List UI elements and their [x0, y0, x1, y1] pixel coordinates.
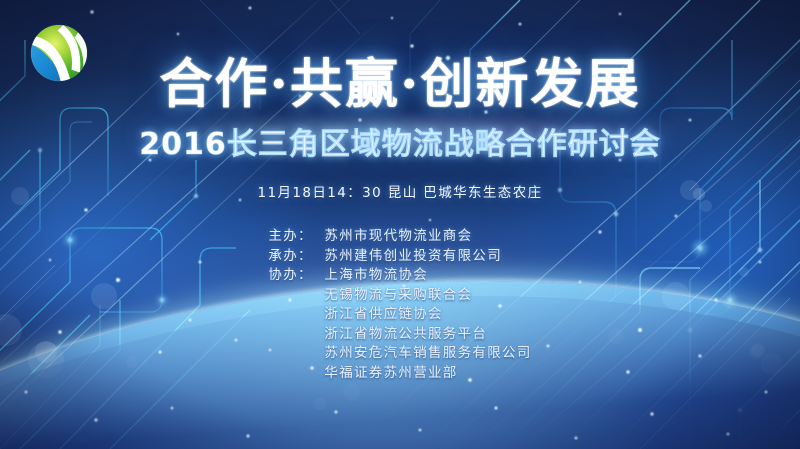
- organizer-label: 主办：: [268, 227, 324, 247]
- organizer-label: 协办：: [268, 266, 324, 286]
- organizer-row: 协办：浙江省物流公共服务平台: [268, 325, 531, 345]
- organizer-row: 协办：华福证券苏州营业部: [268, 364, 531, 384]
- organizer-name: 上海市物流协会: [324, 266, 531, 286]
- organizer-name: 苏州安危汽车销售服务有限公司: [324, 344, 531, 364]
- organizer-name: 浙江省物流公共服务平台: [324, 325, 531, 345]
- organizer-row: 协办：无锡物流与采购联合会: [268, 286, 531, 306]
- organizer-name: 浙江省供应链协会: [324, 305, 531, 325]
- main-title: 合作·共赢·创新发展: [0, 58, 800, 111]
- organizer-row: 协办：苏州安危汽车销售服务有限公司: [268, 344, 531, 364]
- organizer-list: 主办：苏州市现代物流业商会承办：苏州建伟创业投资有限公司协办：上海市物流协会协办…: [268, 227, 531, 383]
- organizer-row: 协办：上海市物流协会: [268, 266, 531, 286]
- poster-content: 合作·共赢·创新发展 2016长三角区域物流战略合作研讨会 11月18日14：3…: [0, 0, 800, 383]
- organizer-name: 苏州建伟创业投资有限公司: [324, 247, 531, 267]
- organizer-name: 华福证券苏州营业部: [324, 364, 531, 384]
- organizer-row: 承办：苏州建伟创业投资有限公司: [268, 247, 531, 267]
- organizer-name: 苏州市现代物流业商会: [324, 227, 531, 247]
- organizer-row: 协办：浙江省供应链协会: [268, 305, 531, 325]
- organizer-row: 主办：苏州市现代物流业商会: [268, 227, 531, 247]
- event-meta: 11月18日14：30 昆山 巴城华东生态农庄: [0, 181, 800, 201]
- sub-title: 2016长三角区域物流战略合作研讨会: [0, 130, 800, 160]
- organizer-name: 无锡物流与采购联合会: [324, 286, 531, 306]
- poster-canvas: 合作·共赢·创新发展 2016长三角区域物流战略合作研讨会 11月18日14：3…: [0, 0, 800, 449]
- organizer-label: 承办：: [268, 247, 324, 267]
